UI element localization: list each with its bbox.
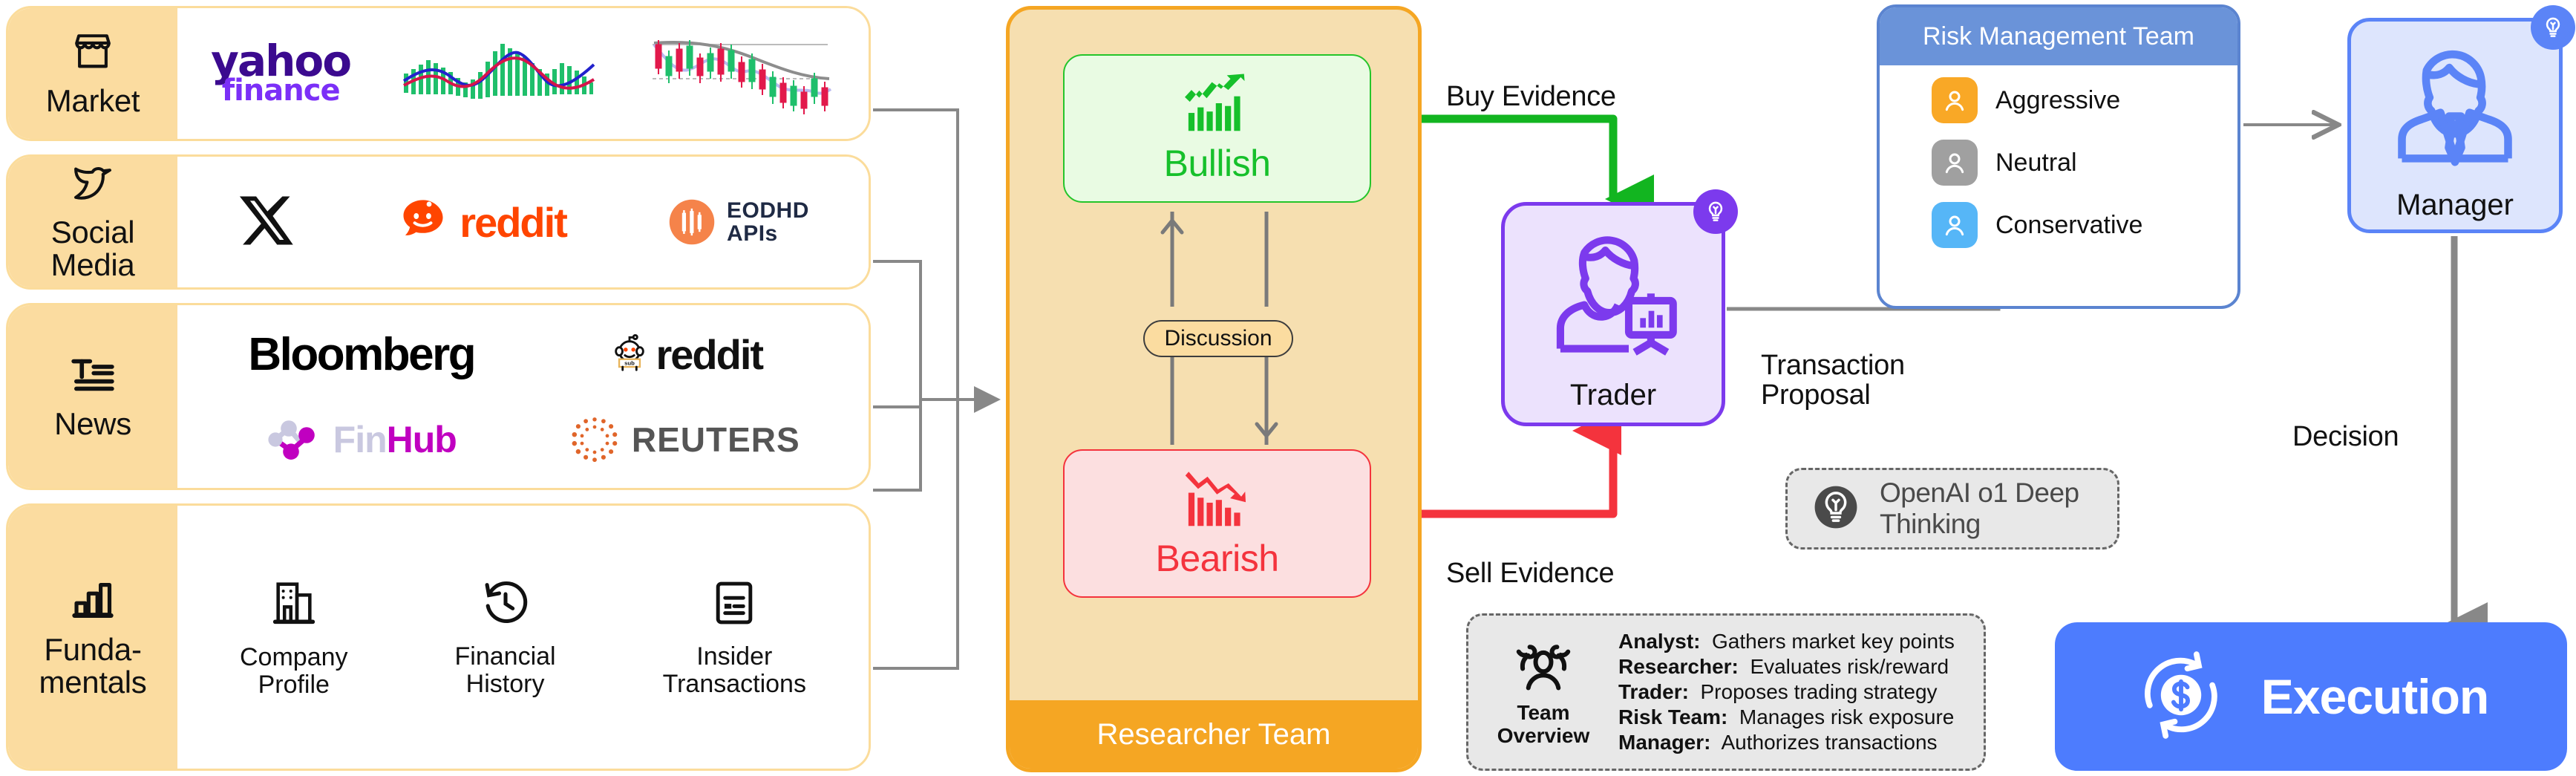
document-icon: [712, 577, 756, 633]
researcher-team-footer: Researcher Team: [1010, 700, 1418, 769]
risk-member-aggressive[interactable]: Aggressive: [1932, 77, 2237, 123]
lightbulb-icon: [1693, 189, 1738, 234]
risk-team-title: Risk Management Team: [1880, 7, 2237, 65]
fundamentals-insider-transactions[interactable]: Insider Transactions: [663, 577, 806, 697]
trending-down-chart-icon: [1182, 468, 1253, 532]
team-overview-row: Researcher: Evaluates risk/reward: [1618, 655, 1955, 679]
bar-chart-icon: [70, 576, 116, 626]
source-items-fundamentals: Company Profile Financial History: [177, 506, 869, 769]
person-icon: [1932, 202, 1978, 248]
edge-label-sell-evidence: Sell Evidence: [1446, 558, 1614, 588]
openai-deep-thinking-chip: OpenAI o1 Deep Thinking: [1785, 468, 2119, 550]
lightbulb-circle-icon: [1813, 484, 1859, 534]
team-overview-row: Analyst: Gathers market key points: [1618, 630, 1955, 653]
source-row-market[interactable]: Market yahoo finance: [6, 6, 871, 141]
risk-member-label: Conservative: [1995, 211, 2142, 240]
lightbulb-icon: [2531, 5, 2575, 50]
openai-chip-label: OpenAI o1 Deep Thinking: [1880, 477, 2117, 540]
source-category-label: Funda- mentals: [39, 633, 147, 698]
building-icon: [270, 576, 318, 633]
volume-bars-chart: [399, 27, 600, 120]
svg-text:sub: sub: [625, 360, 635, 367]
risk-member-label: Neutral: [1995, 149, 2077, 177]
source-category-label: Market: [46, 85, 140, 117]
person-with-chart-icon: [1505, 206, 1722, 376]
bloomberg-logo[interactable]: Bloomberg: [248, 328, 474, 381]
source-items-social-media: reddit EODHD APIs: [177, 157, 869, 287]
reuters-logo[interactable]: REUTERS: [569, 414, 800, 465]
reddit-logo[interactable]: reddit: [396, 195, 566, 250]
risk-member-conservative[interactable]: Conservative: [1932, 202, 2237, 248]
team-overview-row: Manager: Authorizes transactions: [1618, 731, 1955, 754]
bearish-card[interactable]: Bearish: [1063, 449, 1371, 598]
dollar-refresh-icon: [2134, 648, 2229, 746]
source-row-news[interactable]: News Bloomberg sub reddit: [6, 303, 871, 490]
execution-card[interactable]: Execution: [2055, 622, 2567, 771]
x-twitter-logo[interactable]: [237, 192, 295, 253]
trader-label: Trader: [1505, 379, 1722, 412]
source-category-fundamentals: Funda- mentals: [8, 506, 177, 769]
bearish-label: Bearish: [1155, 537, 1278, 580]
edge-label-transaction-proposal: Transaction Proposal: [1761, 350, 1905, 411]
source-category-market: Market: [8, 8, 177, 139]
storefront-icon: [70, 30, 116, 77]
edge-label-decision: Decision: [2292, 422, 2399, 451]
team-overview-row: Risk Team: Manages risk exposure: [1618, 705, 1955, 729]
source-category-news: News: [8, 305, 177, 488]
source-row-social-media[interactable]: Social Media reddit: [6, 154, 871, 290]
business-person-icon: [2351, 22, 2559, 191]
trader-card[interactable]: Trader: [1501, 202, 1725, 426]
candlestick-chart: [650, 24, 835, 124]
edge-label-buy-evidence: Buy Evidence: [1446, 82, 1616, 111]
person-icon: [1932, 140, 1978, 186]
team-overview-row: Trader: Proposes trading strategy: [1618, 680, 1955, 704]
people-group-icon: [1511, 637, 1575, 697]
risk-member-neutral[interactable]: Neutral: [1932, 140, 2237, 186]
source-category-label: News: [54, 408, 131, 440]
subreddit-logo[interactable]: sub reddit: [607, 330, 762, 379]
execution-label: Execution: [2261, 668, 2488, 725]
source-row-fundamentals[interactable]: Funda- mentals C: [6, 503, 871, 771]
eodhd-apis-logo[interactable]: EODHD APIs: [667, 198, 809, 247]
risk-management-team-panel: Risk Management Team Aggressive: [1877, 4, 2240, 309]
source-category-social-media: Social Media: [8, 157, 177, 287]
fundamentals-financial-history[interactable]: Financial History: [455, 577, 556, 697]
person-icon: [1932, 77, 1978, 123]
risk-team-members: Aggressive Neutral Conse: [1880, 65, 2237, 248]
discussion-arrows: [1010, 10, 1422, 772]
diagram-canvas: Market yahoo finance: [0, 0, 2576, 776]
team-overview-legend: Team Overview Analyst: Gathers market ke…: [1466, 613, 1986, 771]
team-overview-rows: Analyst: Gathers market key points Resea…: [1618, 630, 1955, 754]
history-clock-icon: [480, 577, 531, 633]
bird-icon: [70, 163, 116, 209]
article-icon: [69, 353, 117, 400]
yahoo-finance-logo[interactable]: yahoo finance: [211, 44, 350, 103]
researcher-team-panel: Bullish Discussion: [1006, 6, 1422, 772]
finhub-logo[interactable]: FinHub: [267, 417, 457, 462]
source-category-label: Social Media: [51, 216, 135, 281]
source-items-market: yahoo finance: [177, 8, 869, 139]
fundamentals-company-profile[interactable]: Company Profile: [240, 576, 348, 697]
manager-card[interactable]: Manager: [2347, 18, 2563, 233]
manager-label: Manager: [2351, 189, 2559, 222]
risk-member-label: Aggressive: [1995, 86, 2120, 115]
source-items-news: Bloomberg sub reddit: [177, 305, 869, 488]
